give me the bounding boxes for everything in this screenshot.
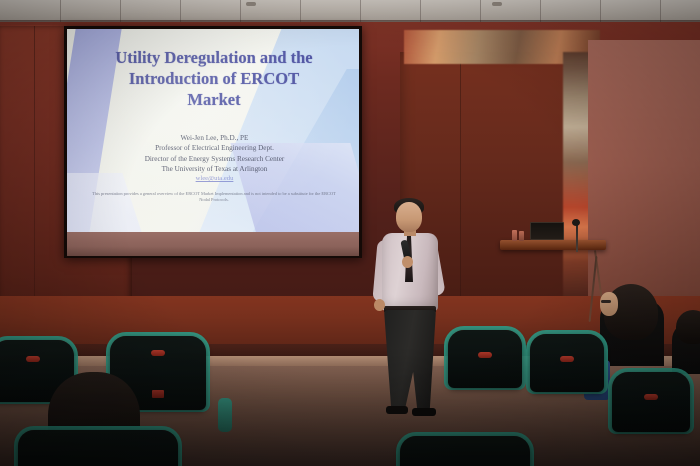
microphone-icon (572, 219, 580, 226)
seat[interactable] (400, 436, 530, 466)
seat[interactable] (18, 430, 178, 466)
seat-badge-lower (152, 390, 164, 398)
seat-badge (560, 356, 574, 362)
presenter-email: wlee@uta.edu (97, 175, 332, 182)
presenter-shoe-left (386, 406, 408, 414)
presenter-role: Director of the Energy Systems Research … (97, 154, 332, 164)
slide-title-line-3: Market (89, 89, 339, 110)
seat-badge (478, 352, 492, 358)
presenter (362, 196, 458, 426)
seat-back (612, 372, 690, 432)
slide-title: Utility Deregulation and the Introductio… (89, 47, 339, 110)
presenter-head (396, 202, 422, 232)
lecture-hall-scene: Utility Deregulation and the Introductio… (0, 0, 700, 466)
seat[interactable] (448, 330, 522, 388)
seat-back (400, 436, 530, 466)
seat-back (448, 330, 522, 388)
audience-member-mid-hair (676, 310, 700, 344)
water-bottle (512, 230, 517, 241)
slide-disclaimer: This presentation provides a general ove… (89, 191, 339, 204)
seat-back (18, 430, 178, 466)
presenter-name: Wei-Jen Lee, Ph.D., PE (97, 133, 332, 143)
seat-badge (26, 356, 40, 362)
presentation-slide: Utility Deregulation and the Introductio… (67, 29, 359, 233)
armrest (218, 398, 232, 432)
presenter-title: Professor of Electrical Engineering Dept… (97, 143, 332, 153)
slide-presenter-block: Wei-Jen Lee, Ph.D., PE Professor of Elec… (97, 133, 332, 175)
slide-title-line-1: Utility Deregulation and the (89, 47, 339, 68)
seat[interactable] (612, 372, 690, 432)
presenter-shoe-right (412, 408, 436, 416)
seat[interactable] (530, 334, 604, 392)
audience-member-right-face (600, 292, 618, 316)
podium-top-surface (500, 240, 606, 250)
presenter-other-hand (374, 299, 385, 311)
gooseneck-mic-stand (576, 224, 578, 252)
seat-badge (151, 350, 165, 356)
presenter-affiliation: The University of Texas at Arlington (97, 164, 332, 174)
seat-badge (644, 394, 658, 400)
seat-back (530, 334, 604, 392)
slide-title-line-2: Introduction of ERCOT (89, 68, 339, 89)
presenter-legs (384, 310, 436, 410)
screen-lower-mask (67, 232, 359, 256)
water-bottle-2 (519, 231, 524, 241)
glasses-icon (601, 300, 611, 303)
laptop-on-podium (530, 222, 564, 240)
presenter-hand (402, 256, 413, 268)
